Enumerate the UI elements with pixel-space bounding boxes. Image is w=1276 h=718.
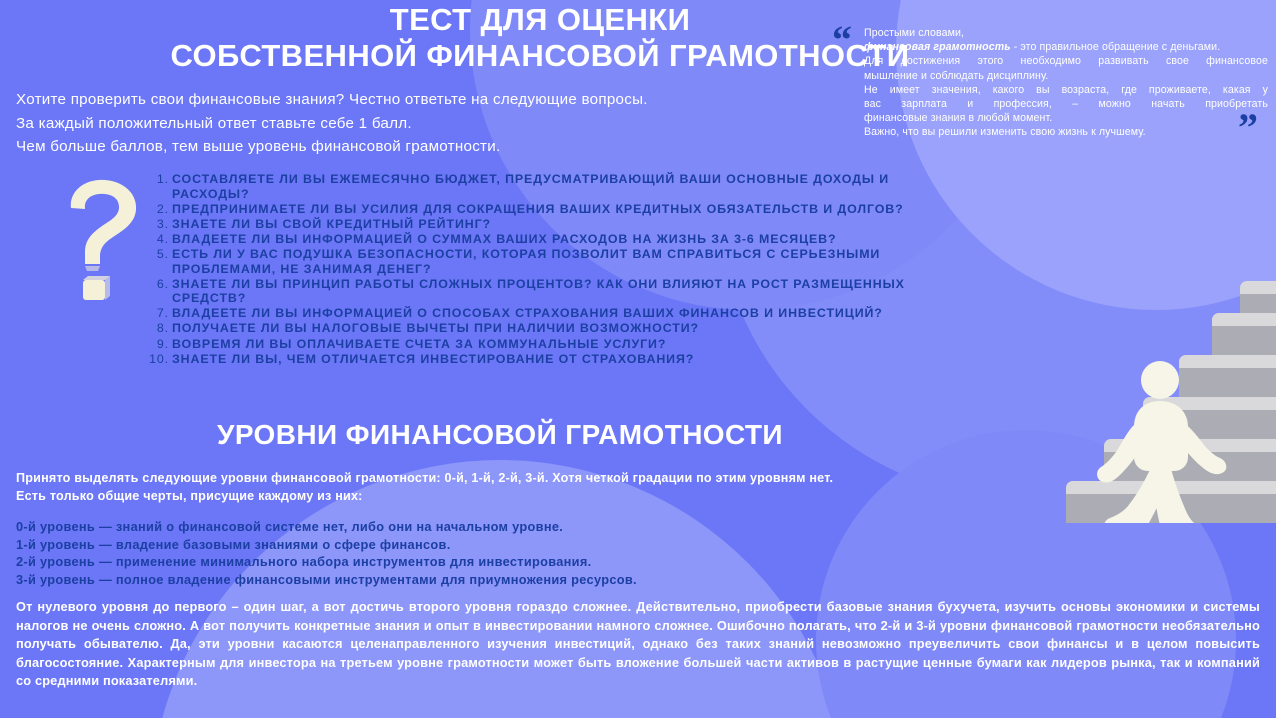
levels-lead-line-2: Есть только общие черты, присущие каждом… [16, 488, 1266, 506]
stair-step-6 [1240, 281, 1276, 313]
level-item: 3-й уровень — полное владение финансовым… [16, 571, 1016, 589]
question-item: 2.ПРЕДПРИНИМАЕТЕ ЛИ ВЫ УСИЛИЯ ДЛЯ СОКРАЩ… [148, 202, 908, 217]
intro-line-3: Чем больше баллов, тем выше уровень фина… [16, 135, 856, 159]
closing-paragraph: От нулевого уровня до первого – один шаг… [16, 598, 1260, 691]
quote-line-4: мышление и соблюдать дисциплину. [864, 69, 1268, 83]
question-number: 7. [148, 306, 169, 321]
question-number: 5. [148, 247, 169, 262]
quote-line-5: Не имеет значения, какого вы возраста, г… [864, 83, 1268, 97]
question-number: 8. [148, 321, 169, 336]
question-list: 1.СОСТАВЛЯЕТЕ ЛИ ВЫ ЕЖЕМЕСЯЧНО БЮДЖЕТ, П… [148, 172, 908, 367]
quote-text: Простыми словами, финансовая грамотность… [864, 26, 1268, 140]
question-item: 7.ВЛАДЕЕТЕ ЛИ ВЫ ИНФОРМАЦИЕЙ О СПОСОБАХ … [148, 306, 908, 321]
question-mark-icon [45, 172, 150, 302]
question-item: 8.ПОЛУЧАЕТЕ ЛИ ВЫ НАЛОГОВЫЕ ВЫЧЕТЫ ПРИ Н… [148, 321, 908, 336]
question-text: ВЛАДЕЕТЕ ЛИ ВЫ ИНФОРМАЦИЕЙ О СУММАХ ВАШИ… [172, 232, 837, 246]
level-item: 0-й уровень — знаний о финансовой систем… [16, 518, 1016, 536]
levels-lead-line-1: Принято выделять следующие уровни финанс… [16, 470, 1266, 488]
levels-lead: Принято выделять следующие уровни финанс… [16, 470, 1266, 505]
quote-line-8: Важно, что вы решили изменить свою жизнь… [864, 125, 1268, 139]
quote-line-3: Для достижения этого необходимо развиват… [864, 54, 1268, 68]
intro-paragraph: Хотите проверить свои финансовые знания?… [16, 88, 856, 159]
quote-open-icon: “ [832, 20, 852, 60]
question-item: 1.СОСТАВЛЯЕТЕ ЛИ ВЫ ЕЖЕМЕСЯЧНО БЮДЖЕТ, П… [148, 172, 908, 201]
question-text: ЕСТЬ ЛИ У ВАС ПОДУШКА БЕЗОПАСНОСТИ, КОТО… [172, 247, 880, 276]
question-text: СОСТАВЛЯЕТЕ ЛИ ВЫ ЕЖЕМЕСЯЧНО БЮДЖЕТ, ПРЕ… [172, 172, 889, 201]
infographic-poster: ТЕСТ ДЛЯ ОЦЕНКИ СОБСТВЕННОЙ ФИНАНСОВОЙ Г… [0, 0, 1276, 718]
level-item: 1-й уровень — владение базовыми знаниями… [16, 536, 1016, 554]
question-item: 10.ЗНАЕТЕ ЛИ ВЫ, ЧЕМ ОТЛИЧАЕТСЯ ИНВЕСТИР… [148, 352, 908, 367]
stair-step-5 [1212, 313, 1276, 355]
question-number: 3. [148, 217, 169, 232]
question-number: 6. [148, 277, 169, 292]
question-text: ЗНАЕТЕ ЛИ ВЫ ПРИНЦИП РАБОТЫ СЛОЖНЫХ ПРОЦ… [172, 277, 905, 306]
quote-line-2: финансовая грамотность - это правильное … [864, 40, 1268, 54]
question-item: 3.ЗНАЕТЕ ЛИ ВЫ СВОЙ КРЕДИТНЫЙ РЕЙТИНГ? [148, 217, 908, 232]
quote-line-6: вас зарплата и профессия, – можно начать… [864, 97, 1268, 111]
quote-term: финансовая грамотность [864, 41, 1011, 53]
question-item: 4.ВЛАДЕЕТЕ ЛИ ВЫ ИНФОРМАЦИЕЙ О СУММАХ ВА… [148, 232, 908, 247]
question-number: 10. [148, 352, 169, 367]
intro-line-1: Хотите проверить свои финансовые знания?… [16, 88, 856, 112]
question-text: ЗНАЕТЕ ЛИ ВЫ СВОЙ КРЕДИТНЫЙ РЕЙТИНГ? [172, 217, 491, 231]
question-item: 5.ЕСТЬ ЛИ У ВАС ПОДУШКА БЕЗОПАСНОСТИ, КО… [148, 247, 908, 276]
question-text: ЗНАЕТЕ ЛИ ВЫ, ЧЕМ ОТЛИЧАЕТСЯ ИНВЕСТИРОВА… [172, 352, 694, 366]
levels-list: 0-й уровень — знаний о финансовой систем… [16, 518, 1016, 588]
question-text: ВЛАДЕЕТЕ ЛИ ВЫ ИНФОРМАЦИЕЙ О СПОСОБАХ СТ… [172, 306, 883, 320]
question-text: ПРЕДПРИНИМАЕТЕ ЛИ ВЫ УСИЛИЯ ДЛЯ СОКРАЩЕН… [172, 202, 904, 216]
question-number: 9. [148, 337, 169, 352]
question-number: 2. [148, 202, 169, 217]
question-item: 6.ЗНАЕТЕ ЛИ ВЫ ПРИНЦИП РАБОТЫ СЛОЖНЫХ ПР… [148, 277, 908, 306]
question-number: 4. [148, 232, 169, 247]
quote-line-7: финансовые знания в любой момент. [864, 111, 1268, 125]
intro-line-2: За каждый положительный ответ ставьте се… [16, 112, 856, 136]
levels-heading: УРОВНИ ФИНАНСОВОЙ ГРАМОТНОСТИ [0, 418, 1000, 452]
question-number: 1. [148, 172, 169, 187]
question-item: 9.ВОВРЕМЯ ЛИ ВЫ ОПЛАЧИВАЕТЕ СЧЕТА ЗА КОМ… [148, 337, 908, 352]
quote-line-1: Простыми словами, [864, 26, 1268, 40]
question-text: ПОЛУЧАЕТЕ ЛИ ВЫ НАЛОГОВЫЕ ВЫЧЕТЫ ПРИ НАЛ… [172, 321, 699, 335]
question-text: ВОВРЕМЯ ЛИ ВЫ ОПЛАЧИВАЕТЕ СЧЕТА ЗА КОММУ… [172, 337, 666, 351]
quote-line-2-rest: - это правильное обращение с деньгами. [1011, 41, 1221, 53]
quote-callout: “ Простыми словами, финансовая грамотнос… [832, 14, 1268, 154]
level-item: 2-й уровень — применение минимального на… [16, 553, 1016, 571]
quote-close-icon: ” [1238, 108, 1258, 148]
closing-text: От нулевого уровня до первого – один шаг… [16, 598, 1260, 691]
